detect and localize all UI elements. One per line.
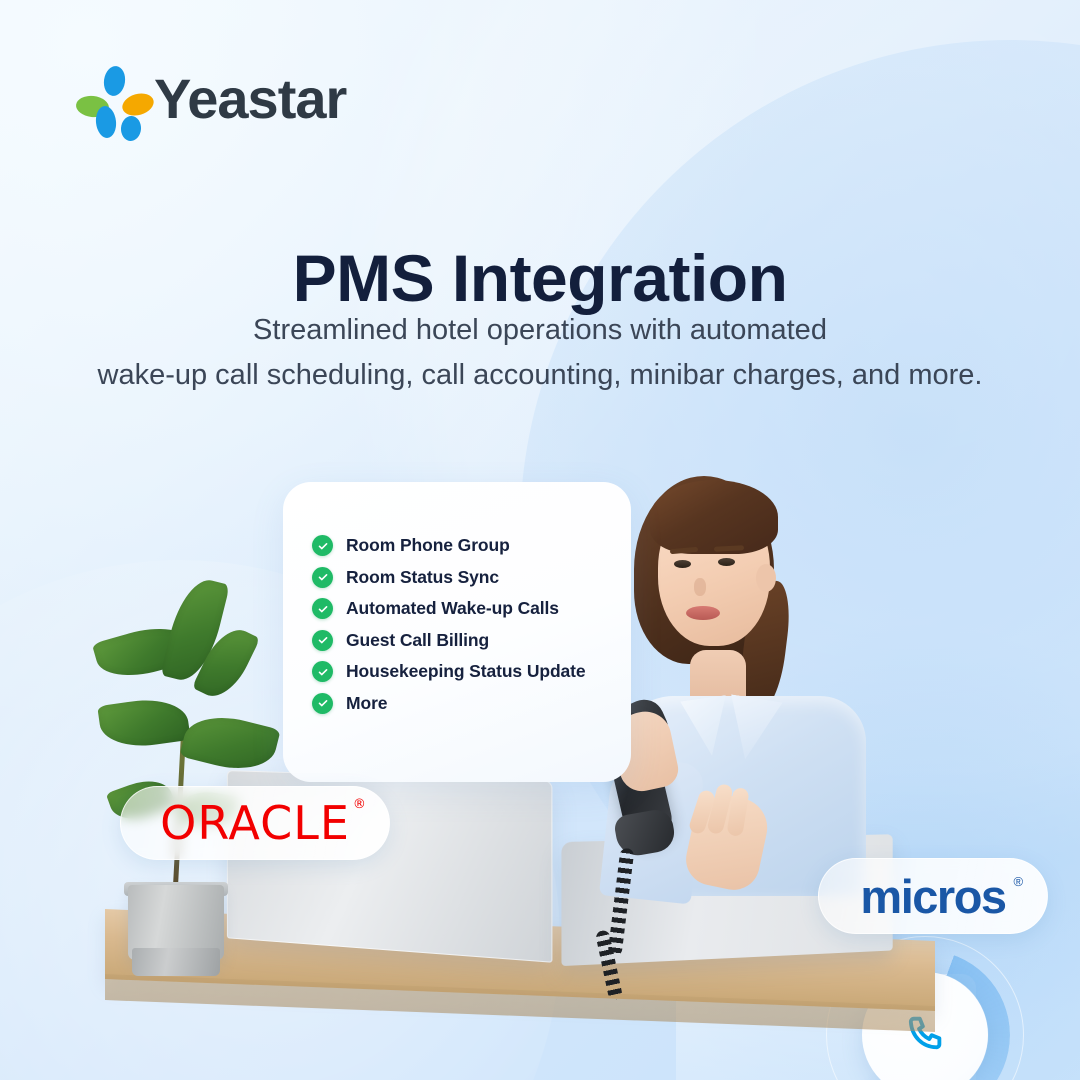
brand-logo[interactable]: Yeastar xyxy=(78,66,346,132)
partner-badge-oracle[interactable]: ORACLE ® xyxy=(120,786,390,860)
promo-canvas: Yeastar PMS Integration Streamlined hote… xyxy=(0,0,1080,1080)
subtitle-line-1: Streamlined hotel operations with automa… xyxy=(0,308,1080,353)
logo-petal-bottom-left-icon xyxy=(94,105,117,139)
list-item-label: Housekeeping Status Update xyxy=(346,661,586,682)
list-item[interactable]: Room Status Sync xyxy=(312,562,672,594)
page-subtitle: Streamlined hotel operations with automa… xyxy=(0,308,1080,398)
feature-list: Room Phone Group Room Status Sync Automa… xyxy=(312,530,672,719)
list-item[interactable]: Automated Wake-up Calls xyxy=(312,593,672,625)
plant-leaf xyxy=(179,708,280,779)
ear xyxy=(756,564,776,592)
eye-left xyxy=(674,560,691,568)
logo-petal-bottom-right-icon xyxy=(120,115,142,141)
page-title: PMS Integration xyxy=(0,240,1080,316)
micros-wordmark: micros xyxy=(860,870,1005,923)
list-item[interactable]: More xyxy=(312,688,672,720)
check-circle-icon xyxy=(312,661,333,682)
nose xyxy=(694,578,706,596)
logo-petal-right-icon xyxy=(120,90,157,119)
plant-pot-base xyxy=(132,948,220,976)
list-item-label: Room Phone Group xyxy=(346,535,510,556)
yeastar-pinwheel-logo-icon xyxy=(78,66,140,132)
oracle-wordmark: ORACLE xyxy=(160,796,350,850)
brand-wordmark: Yeastar xyxy=(154,71,346,127)
check-circle-icon xyxy=(312,693,333,714)
check-circle-icon xyxy=(312,535,333,556)
micros-logo-icon: micros ® xyxy=(860,873,1005,920)
list-item[interactable]: Guest Call Billing xyxy=(312,625,672,657)
list-item[interactable]: Room Phone Group xyxy=(312,530,672,562)
list-item-label: Room Status Sync xyxy=(346,567,499,588)
logo-petal-top-icon xyxy=(102,65,127,98)
check-circle-icon xyxy=(312,598,333,619)
check-circle-icon xyxy=(312,567,333,588)
registered-mark: ® xyxy=(1013,875,1021,888)
list-item[interactable]: Housekeeping Status Update xyxy=(312,656,672,688)
list-item-label: Guest Call Billing xyxy=(346,630,489,651)
partner-badge-micros[interactable]: micros ® xyxy=(818,858,1048,934)
oracle-logo-icon: ORACLE ® xyxy=(160,800,350,846)
subtitle-line-2: wake-up call scheduling, call accounting… xyxy=(0,353,1080,398)
list-item-label: More xyxy=(346,693,387,714)
registered-mark: ® xyxy=(353,798,367,811)
plant-leaf xyxy=(97,694,191,752)
check-circle-icon xyxy=(312,630,333,651)
list-item-label: Automated Wake-up Calls xyxy=(346,598,559,619)
eye-right xyxy=(718,558,735,566)
lips xyxy=(686,606,720,620)
